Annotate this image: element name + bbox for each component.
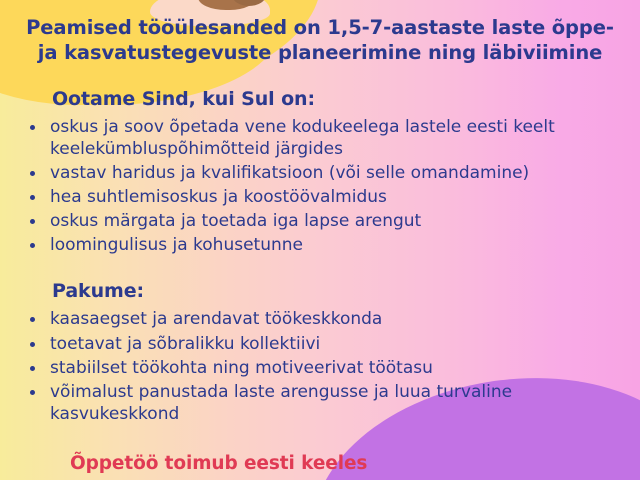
list-item: loomingulisus ja kohusetunne — [26, 234, 614, 256]
list-item: vastav haridus ja kvalifikatsioon (või s… — [26, 162, 614, 184]
bullet-dot-icon — [30, 342, 35, 347]
bullet-dot-icon — [30, 195, 35, 200]
section-heading-requirements: Ootame Sind, kui Sul on: — [52, 66, 614, 110]
bullet-dot-icon — [30, 219, 35, 224]
poster-content: Peamised tööülesanded on 1,5-7-aastaste … — [0, 0, 640, 480]
list-item: hea suhtlemisoskus ja koostöövalmidus — [26, 186, 614, 208]
list-item: kaasaegset ja arendavat töökeskkonda — [26, 308, 614, 330]
bullet-dot-icon — [30, 243, 35, 248]
section-heading-offers: Pakume: — [52, 258, 614, 302]
bullet-dot-icon — [30, 390, 35, 395]
list-item-label: oskus märgata ja toetada iga lapse areng… — [50, 211, 421, 231]
bullet-dot-icon — [30, 171, 35, 176]
list-item-label: oskus ja soov õpetada vene kodukeelega l… — [50, 117, 555, 159]
list-item: võimalust panustada laste arengusse ja l… — [26, 381, 614, 425]
list-item-label: stabiilset töökohta ning motiveerivat tö… — [50, 358, 433, 378]
list-item-label: hea suhtlemisoskus ja koostöövalmidus — [50, 187, 387, 207]
section-offers: Pakume: kaasaegset ja arendavat töökeskk… — [0, 258, 640, 424]
bullet-dot-icon — [30, 125, 35, 130]
list-item: oskus märgata ja toetada iga lapse areng… — [26, 210, 614, 232]
list-item: oskus ja soov õpetada vene kodukeelega l… — [26, 116, 614, 160]
list-item-label: kaasaegset ja arendavat töökeskkonda — [50, 309, 382, 329]
list-item: toetavat ja sõbralikku kollektiivi — [26, 333, 614, 355]
bullet-dot-icon — [30, 366, 35, 371]
offers-list: kaasaegset ja arendavat töökeskkonda toe… — [52, 308, 614, 424]
bullet-dot-icon — [30, 317, 35, 322]
list-item-label: vastav haridus ja kvalifikatsioon (või s… — [50, 163, 529, 183]
list-item-label: loomingulisus ja kohusetunne — [50, 235, 303, 255]
poster-title: Peamised tööülesanded on 1,5-7-aastaste … — [0, 0, 640, 66]
list-item: stabiilset töökohta ning motiveerivat tö… — [26, 357, 614, 379]
requirements-list: oskus ja soov õpetada vene kodukeelega l… — [52, 116, 614, 257]
section-requirements: Ootame Sind, kui Sul on: oskus ja soov õ… — [0, 66, 640, 257]
list-item-label: võimalust panustada laste arengusse ja l… — [50, 382, 512, 424]
footer-note: Õppetöö toimub eesti keeles — [0, 427, 640, 474]
poster-canvas: Peamised tööülesanded on 1,5-7-aastaste … — [0, 0, 640, 480]
list-item-label: toetavat ja sõbralikku kollektiivi — [50, 334, 320, 354]
